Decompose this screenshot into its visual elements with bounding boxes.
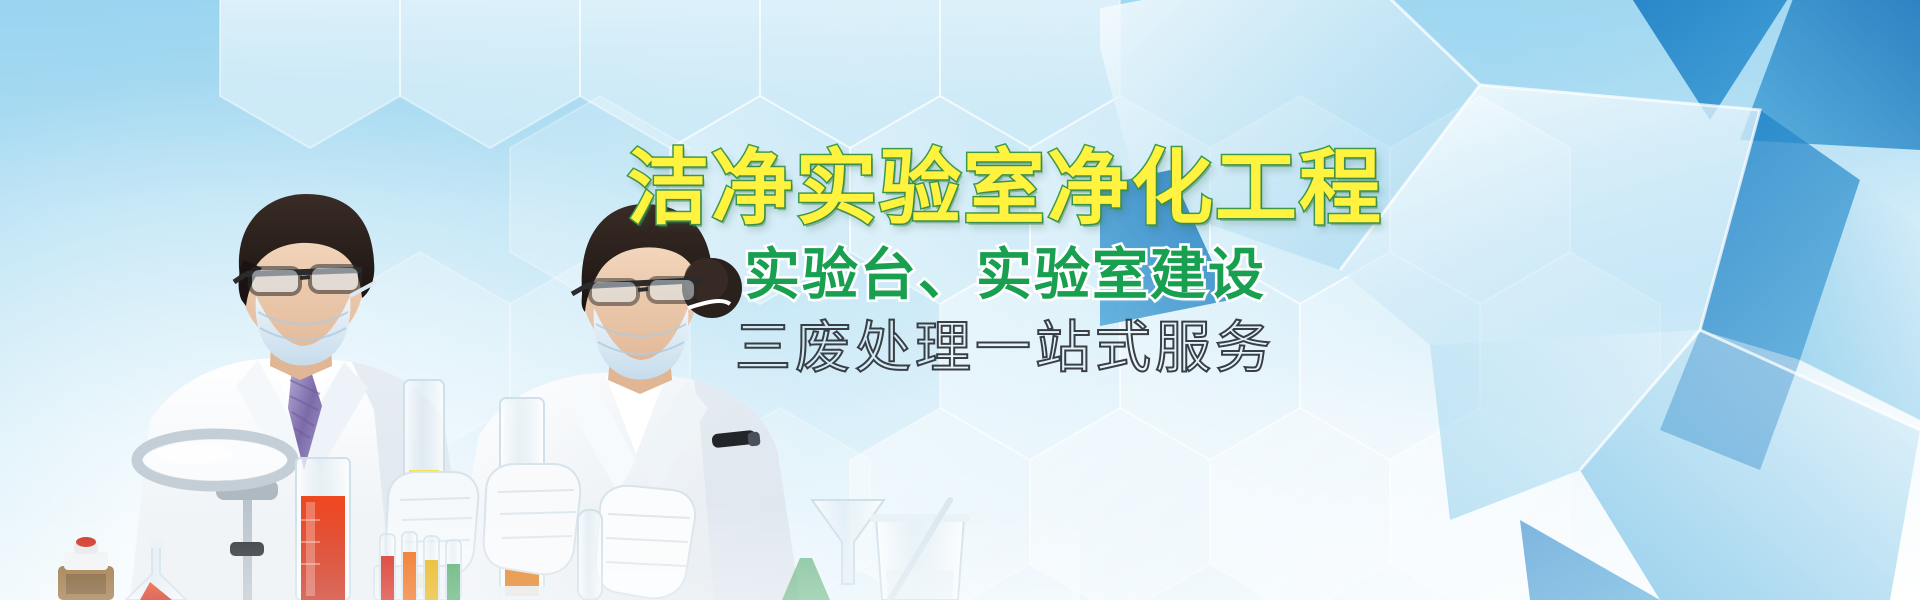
graduated-cylinder-orange — [484, 398, 581, 600]
stirring-rod — [890, 500, 950, 600]
gloved-hand — [484, 464, 581, 574]
magnifier-stand — [137, 434, 293, 600]
graduated-cylinder-red — [296, 458, 350, 600]
gloved-hand — [386, 472, 479, 576]
pocket-pen — [711, 430, 760, 449]
funnel — [812, 500, 884, 584]
gloved-hand — [596, 486, 695, 599]
banner-headline: 洁净实验室净化工程 — [540, 148, 1470, 230]
male-scientist-photo — [130, 194, 470, 600]
reagent-bottle — [58, 537, 114, 600]
banner-subline-green: 实验台、实验室建设 — [540, 246, 1470, 305]
safety-glasses — [234, 266, 362, 294]
erlenmeyer-flask — [126, 538, 186, 600]
green-flask — [782, 558, 830, 600]
clear-test-tube — [578, 510, 602, 600]
test-tube-rack — [374, 532, 461, 600]
beaker — [870, 500, 970, 600]
banner-text-block: 洁净实验室净化工程 实验台、实验室建设 三废处理一站式服务 — [540, 148, 1470, 378]
hero-banner: 洁净实验室净化工程 实验台、实验室建设 三废处理一站式服务 — [0, 0, 1920, 600]
banner-subline-outline: 三废处理一站式服务 — [540, 319, 1470, 378]
graduated-cylinder-yellow — [386, 380, 479, 600]
